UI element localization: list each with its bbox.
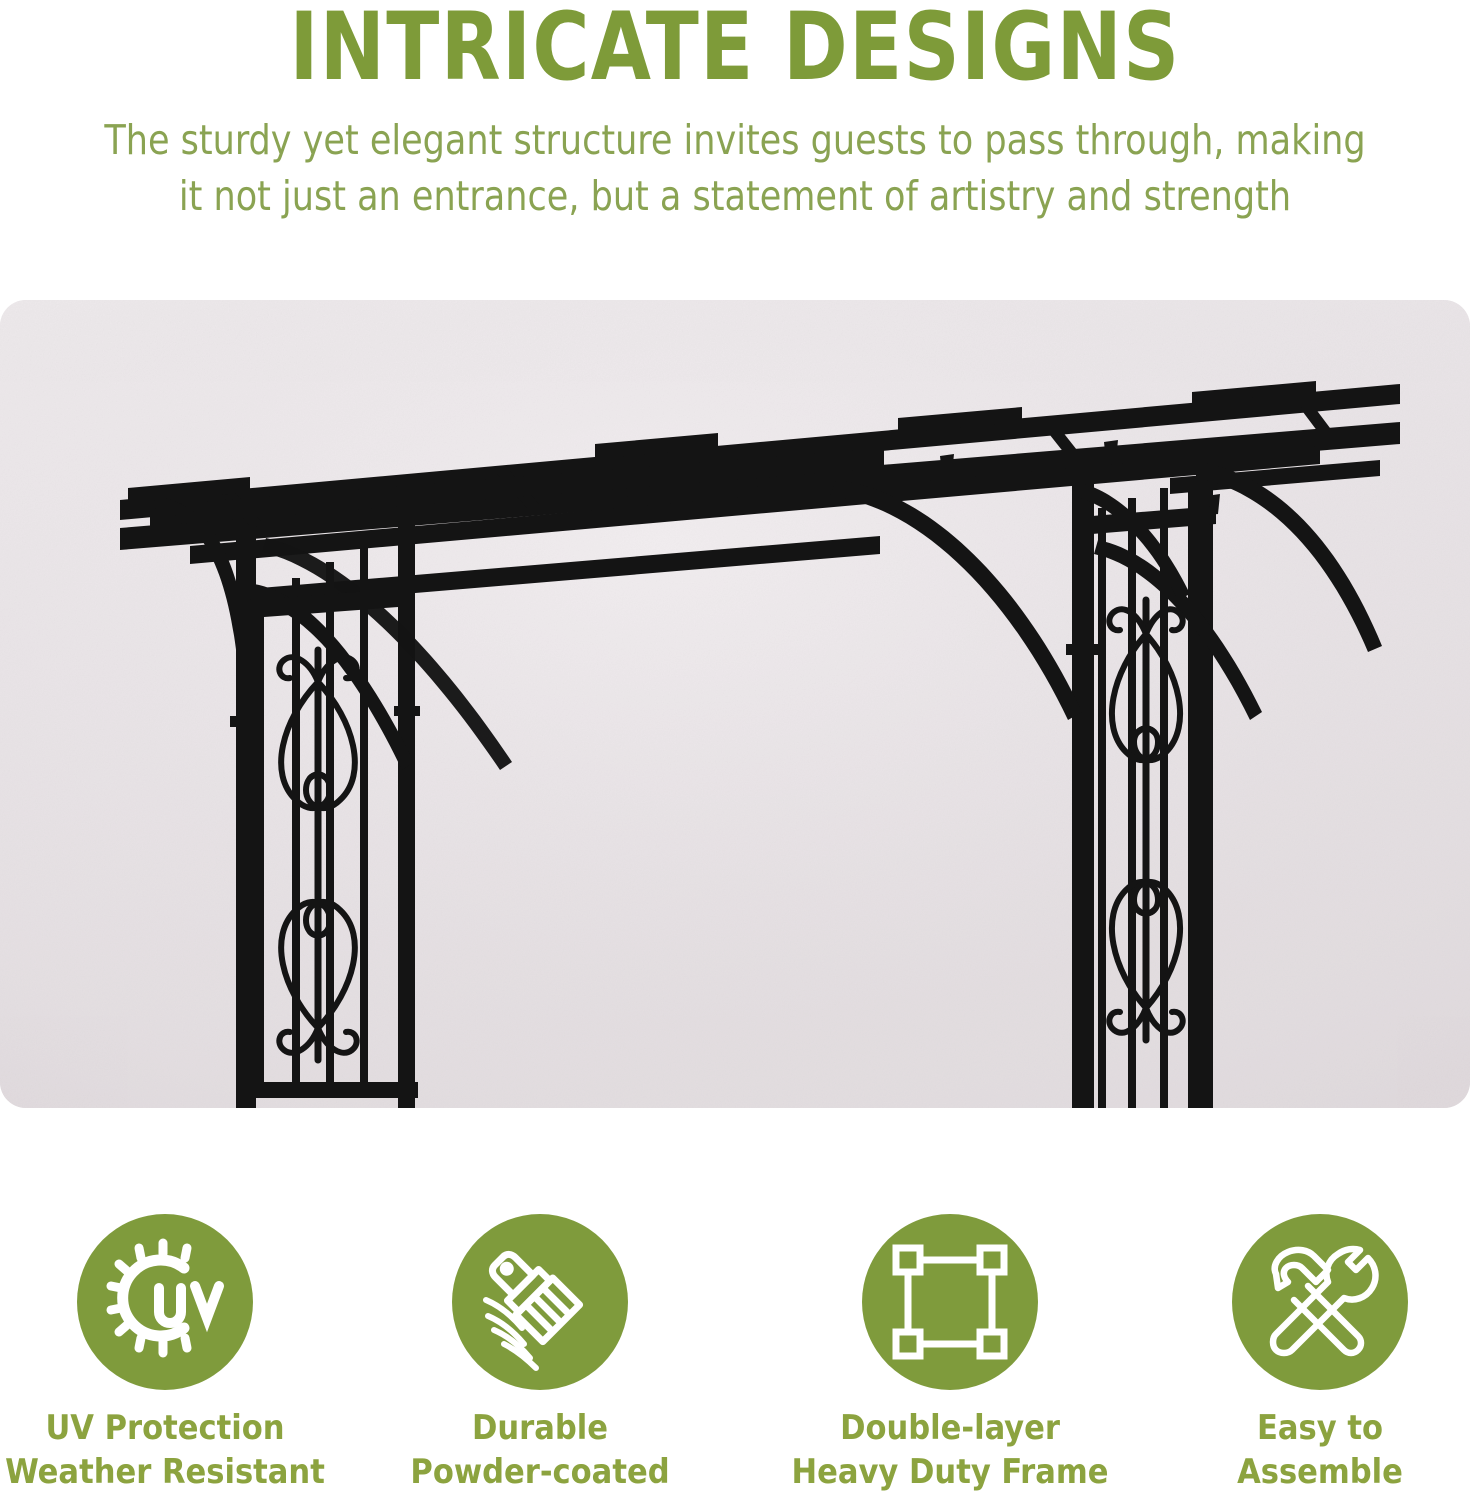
feature-label-line-2: Heavy Duty Frame <box>785 1450 1115 1494</box>
feature-uv-protection: UV Protection Weather Resistant <box>0 1200 330 1494</box>
page-subtitle: The sturdy yet elegant structure invites… <box>89 112 1381 224</box>
feature-powder-coated: Durable Powder-coated <box>375 1200 705 1494</box>
feature-label-line-2: Powder-coated <box>375 1450 705 1494</box>
uv-sun-icon <box>77 1214 253 1390</box>
arbor-illustration <box>0 300 1470 1108</box>
post-front-right <box>1072 450 1094 1108</box>
feature-label-line-1: Durable <box>375 1406 705 1450</box>
feature-label-line-1: UV Protection <box>0 1406 330 1450</box>
feature-caption: Durable Powder-coated <box>375 1406 705 1494</box>
product-photo <box>0 300 1470 1108</box>
feature-list: UV Protection Weather Resistant <box>0 1200 1470 1486</box>
feature-caption: Easy to Assemble <box>1155 1406 1470 1494</box>
paint-brush-icon <box>452 1214 628 1390</box>
hammer-wrench-icon <box>1232 1214 1408 1390</box>
subtitle-line-1: The sturdy yet elegant structure invites… <box>104 116 1365 164</box>
subtitle-line-2: it not just an entrance, but a statement… <box>89 168 1381 224</box>
feature-easy-to-assemble: Easy to Assemble <box>1155 1200 1470 1494</box>
header-section: INTRICATE DESIGNS The sturdy yet elegant… <box>0 0 1470 300</box>
page-title: INTRICATE DESIGNS <box>59 0 1411 100</box>
frame-corners-icon <box>862 1214 1038 1390</box>
feature-label-line-2: Weather Resistant <box>0 1450 330 1494</box>
feature-heavy-duty-frame: Double-layer Heavy Duty Frame <box>785 1200 1115 1494</box>
feature-label-line-1: Easy to <box>1155 1406 1470 1450</box>
feature-label-line-2: Assemble <box>1155 1450 1470 1494</box>
post-back-right <box>1196 446 1213 1108</box>
feature-caption: UV Protection Weather Resistant <box>0 1406 330 1494</box>
feature-caption: Double-layer Heavy Duty Frame <box>785 1406 1115 1494</box>
feature-label-line-1: Double-layer <box>785 1406 1115 1450</box>
